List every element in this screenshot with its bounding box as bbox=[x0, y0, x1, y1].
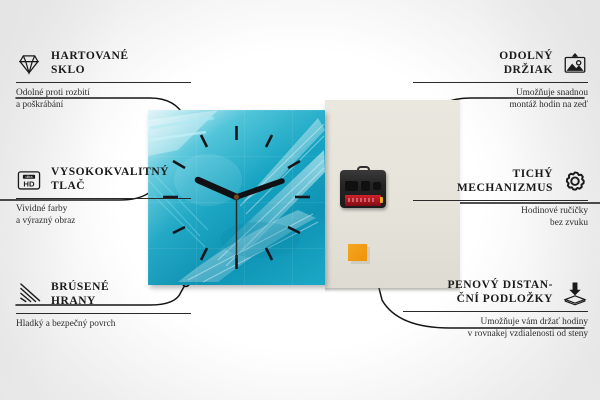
clock-movement bbox=[340, 166, 386, 208]
feature-polished-edges: BRÚSENÉ HRANY Hladký a bezpečný povrch bbox=[16, 281, 191, 331]
feature-silent-mechanism: TICHÝ MECHANIZMUS Hodinové ručičky bez z… bbox=[413, 168, 588, 229]
polished-edges-icon bbox=[16, 282, 42, 308]
battery-label bbox=[348, 198, 376, 202]
clock-hour-hand bbox=[198, 180, 237, 197]
feature-description: Vividné farby a výrazný obraz bbox=[16, 204, 191, 227]
feature-high-quality-print: ultra HD VYSOKOKVALITNÝ TLAČ Vividné far… bbox=[16, 166, 191, 227]
foam-spacer-icon bbox=[562, 280, 588, 306]
feature-description: Odolné proti rozbití a poškrábání bbox=[16, 88, 191, 111]
svg-text:HD: HD bbox=[23, 179, 35, 188]
clock-minute-hand bbox=[237, 181, 283, 197]
feature-divider bbox=[16, 82, 191, 83]
infographic-canvas: HARTOVANÉ SKLO Odolné proti rozbití a po… bbox=[0, 0, 600, 400]
feature-title: VYSOKOKVALITNÝ TLAČ bbox=[51, 166, 191, 193]
feature-title: HARTOVANÉ SKLO bbox=[51, 50, 191, 77]
picture-hanger-icon bbox=[562, 51, 588, 77]
feature-title: BRÚSENÉ HRANY bbox=[51, 281, 191, 308]
feature-divider bbox=[16, 198, 191, 199]
feature-description: Hodinové ručičky bez zvuku bbox=[413, 206, 588, 229]
movement-slot bbox=[361, 181, 370, 191]
feature-description: Hladký a bezpečný povrch bbox=[16, 319, 191, 331]
feature-header: PENOVÝ DISTAN- ČNÍ PODLOŽKY bbox=[403, 279, 588, 306]
feature-divider bbox=[16, 313, 191, 314]
movement-body bbox=[340, 170, 386, 208]
feature-tempered-glass: HARTOVANÉ SKLO Odolné proti rozbití a po… bbox=[16, 50, 191, 111]
feature-header: HARTOVANÉ SKLO bbox=[16, 50, 191, 77]
feature-header: ODOLNÝ DRŽIAK bbox=[413, 50, 588, 77]
feature-durable-holder: ODOLNÝ DRŽIAK Umožňuje snadnou montáž ho… bbox=[413, 50, 588, 111]
feature-divider bbox=[413, 82, 588, 83]
feature-foam-spacers: PENOVÝ DISTAN- ČNÍ PODLOŽKY Umožňuje vám… bbox=[403, 279, 588, 340]
gear-icon bbox=[562, 169, 588, 195]
feature-description: Umožňuje snadnou montáž hodin na zeď bbox=[413, 88, 588, 111]
feature-divider bbox=[413, 200, 588, 201]
feature-header: BRÚSENÉ HRANY bbox=[16, 281, 191, 308]
feature-divider bbox=[403, 311, 588, 312]
feature-title: PENOVÝ DISTAN- ČNÍ PODLOŽKY bbox=[403, 279, 553, 306]
ultra-hd-icon: ultra HD bbox=[16, 167, 42, 193]
movement-slot bbox=[345, 181, 358, 191]
svg-text:ultra: ultra bbox=[26, 175, 33, 179]
foam-spacer-pad bbox=[348, 244, 367, 261]
feature-title: ODOLNÝ DRŽIAK bbox=[413, 50, 553, 77]
movement-slot bbox=[373, 182, 381, 190]
feature-description: Umožňuje vám držať hodiny v rovnakej vzd… bbox=[403, 317, 588, 340]
diamond-icon bbox=[16, 51, 42, 77]
feature-header: ultra HD VYSOKOKVALITNÝ TLAČ bbox=[16, 166, 191, 193]
feature-title: TICHÝ MECHANIZMUS bbox=[413, 168, 553, 195]
feature-header: TICHÝ MECHANIZMUS bbox=[413, 168, 588, 195]
battery bbox=[345, 195, 381, 206]
